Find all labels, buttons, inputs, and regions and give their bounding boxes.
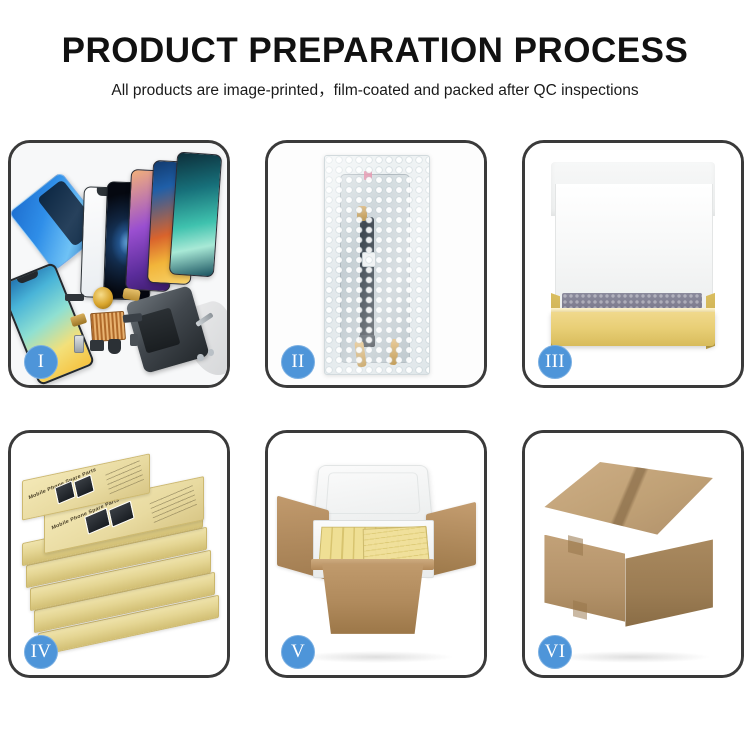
spare-part-icon <box>108 339 121 354</box>
spare-part-icon <box>130 334 139 346</box>
copper-coil-icon <box>93 287 112 309</box>
box-front-panel-icon <box>551 312 715 346</box>
copper-grid-chip-icon <box>90 311 126 342</box>
carton-tape-icon <box>573 601 587 620</box>
box-print-spec-lines-icon <box>149 482 197 523</box>
spare-part-icon <box>90 340 104 351</box>
page-subtitle: All products are image-printed，film-coat… <box>0 68 750 99</box>
carton-tape-icon <box>568 535 583 556</box>
step-badge-1: I <box>24 345 58 379</box>
steps-grid: I II <box>8 140 744 678</box>
carton-front-icon <box>318 564 428 634</box>
product-preparation-infographic: PRODUCT PREPARATION PROCESS All products… <box>0 0 750 750</box>
step-card-1[interactable]: I <box>8 140 230 388</box>
step-badge-2: II <box>281 345 315 379</box>
box-stack-icon: Mobile Phone Spare Parts Mobile Phone Sp… <box>17 467 220 656</box>
drop-shadow <box>298 651 454 663</box>
drop-shadow <box>555 651 711 663</box>
box-print-spec-lines-icon <box>105 459 144 494</box>
step-card-2[interactable]: II <box>265 140 487 388</box>
step-card-6[interactable]: VI <box>522 430 744 678</box>
bubble-wrap-bag-icon <box>324 155 430 375</box>
spare-part-icon <box>74 335 85 353</box>
eps-foam-lid-icon <box>313 465 433 522</box>
step-badge-4: IV <box>24 635 58 669</box>
page-title: PRODUCT PREPARATION PROCESS <box>0 0 750 68</box>
carton-right-face-icon <box>625 539 712 626</box>
phone-display-teal-icon <box>169 151 223 277</box>
spare-part-icon <box>65 294 84 300</box>
step-badge-5: V <box>281 635 315 669</box>
plastic-sheen-icon <box>325 156 429 374</box>
step-badge-3: III <box>538 345 572 379</box>
screw-icon <box>197 354 204 362</box>
step-card-4[interactable]: Mobile Phone Spare Parts Mobile Phone Sp… <box>8 430 230 678</box>
step-badge-6: VI <box>538 635 572 669</box>
step-card-5[interactable]: V <box>265 430 487 678</box>
box-interior-icon <box>555 184 713 310</box>
step-card-3[interactable]: III <box>522 140 744 388</box>
carton-seam-icon <box>544 462 712 535</box>
header: PRODUCT PREPARATION PROCESS All products… <box>0 0 750 99</box>
